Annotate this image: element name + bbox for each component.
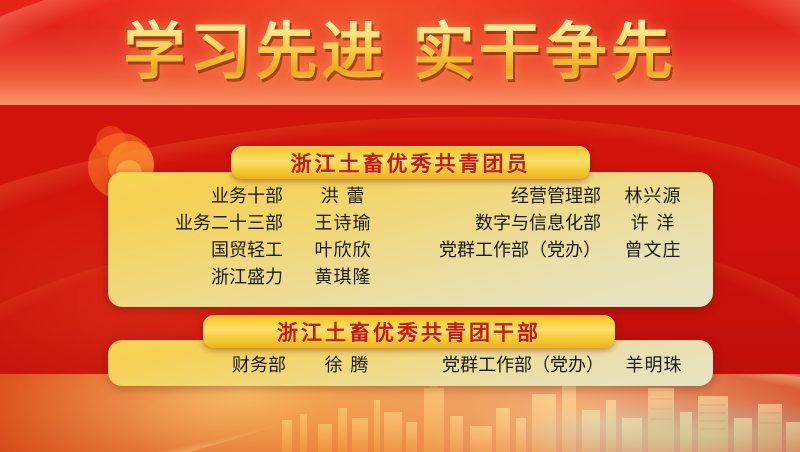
name-cell: 徐 腾 xyxy=(286,351,408,377)
name-cell: 许 洋 xyxy=(601,209,705,235)
table-row: 财务部 徐 腾 党群工作部（党办） 羊明珠 xyxy=(108,350,713,377)
dept-cell: 浙江盛力 xyxy=(108,263,283,289)
dept-cell: 党群工作部（党办） xyxy=(408,351,604,377)
name-cell: 林兴源 xyxy=(601,182,705,208)
table-row: 浙江盛力 黄琪隆 xyxy=(108,262,713,289)
table-row: 业务十部 洪 蕾 经营管理部 林兴源 xyxy=(108,181,713,208)
name-cell: 黄琪隆 xyxy=(283,263,403,289)
poster-root: 学习先进 实干争先 xyxy=(0,0,800,452)
dept-cell: 财务部 xyxy=(108,351,286,377)
table-row: 国贸轻工 叶欣欣 党群工作部（党办） 曾文庄 xyxy=(108,235,713,262)
members-banner-label: 浙江土畜优秀共青团员 xyxy=(291,148,531,178)
dept-cell: 业务二十三部 xyxy=(108,209,283,235)
dept-cell: 经营管理部 xyxy=(403,182,601,208)
members-row-list: 业务十部 洪 蕾 经营管理部 林兴源 业务二十三部 王诗瑜 数字与信息化部 许 … xyxy=(108,172,713,289)
cadres-banner: 浙江土畜优秀共青团干部 xyxy=(203,315,615,348)
name-cell: 叶欣欣 xyxy=(283,236,403,262)
name-cell: 王诗瑜 xyxy=(283,209,403,235)
dept-cell: 业务十部 xyxy=(108,182,283,208)
cadres-banner-label: 浙江土畜优秀共青团干部 xyxy=(277,317,541,347)
name-cell: 羊明珠 xyxy=(604,351,704,377)
page-title: 学习先进 实干争先 xyxy=(0,14,800,90)
members-banner: 浙江土畜优秀共青团员 xyxy=(231,146,590,179)
members-panel: 业务十部 洪 蕾 经营管理部 林兴源 业务二十三部 王诗瑜 数字与信息化部 许 … xyxy=(108,172,713,307)
dept-cell: 数字与信息化部 xyxy=(403,209,601,235)
dept-cell: 国贸轻工 xyxy=(108,236,283,262)
dept-cell: 党群工作部（党办） xyxy=(403,236,601,262)
name-cell: 曾文庄 xyxy=(601,236,705,262)
table-row: 业务二十三部 王诗瑜 数字与信息化部 许 洋 xyxy=(108,208,713,235)
name-cell: 洪 蕾 xyxy=(283,182,403,208)
